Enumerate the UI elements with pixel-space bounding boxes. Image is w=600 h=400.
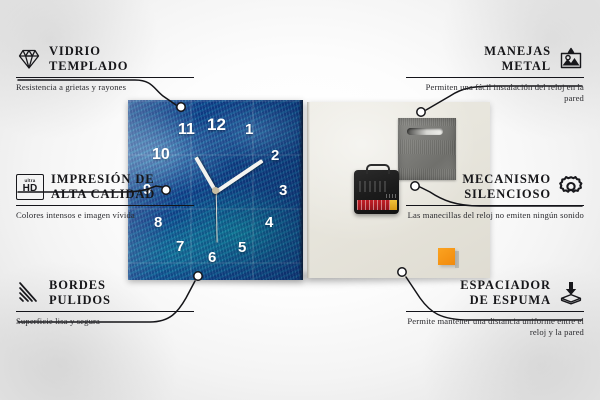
connector-node-bordes — [194, 272, 202, 280]
callout-rule — [406, 77, 584, 78]
callout-rule — [16, 77, 194, 78]
polished-edge-icon — [16, 280, 42, 306]
callout-espaciador-espuma: ESPACIADOR DE ESPUMA Permite mantener un… — [406, 278, 584, 339]
callout-desc: Superficie lisa y segura — [16, 316, 194, 327]
diamond-icon — [16, 46, 42, 72]
callout-impresion-alta-calidad: ultra HD IMPRESIÓN DE ALTA CALIDAD Color… — [16, 172, 194, 221]
connector-node-espaciador — [398, 268, 406, 276]
callout-title: MANEJAS METAL — [484, 44, 551, 74]
callout-desc: Permiten una fácil instalación del reloj… — [406, 82, 584, 105]
connector-node-vidrio — [177, 103, 185, 111]
callout-rule — [406, 311, 584, 312]
callout-rule — [406, 205, 584, 206]
callout-desc: Permite mantener una distancia uniforme … — [406, 316, 584, 339]
callout-title: IMPRESIÓN DE ALTA CALIDAD — [51, 172, 155, 202]
callout-rule — [16, 205, 194, 206]
callout-title: MECANISMO SILENCIOSO — [462, 172, 551, 202]
foam-spacer-icon — [558, 280, 584, 306]
callout-desc: Resistencia a grietas y rayones — [16, 82, 194, 93]
callout-vidrio-templado: VIDRIO TEMPLADO Resistencia a grietas y … — [16, 44, 194, 93]
callout-title: BORDES PULIDOS — [49, 278, 111, 308]
callout-mecanismo-silencioso: MECANISMO SILENCIOSO Las manecillas del … — [406, 172, 584, 221]
gear-icon — [558, 174, 584, 200]
ultra-hd-icon: ultra HD — [16, 174, 44, 200]
hanging-frame-icon — [558, 46, 584, 72]
callout-manejas-metal: MANEJAS METAL Permiten una fácil instala… — [406, 44, 584, 105]
callout-desc: Colores intensos e imagen vívida — [16, 210, 194, 221]
infographic-canvas: 12 1 2 3 4 5 6 7 8 9 10 11 — [0, 0, 600, 400]
callout-rule — [16, 311, 194, 312]
ultra-hd-main: HD — [23, 184, 38, 194]
callout-bordes-pulidos: BORDES PULIDOS Superficie lisa y segura — [16, 278, 194, 327]
callout-desc: Las manecillas del reloj no emiten ningú… — [406, 210, 584, 221]
callout-title: ESPACIADOR DE ESPUMA — [460, 278, 551, 308]
callout-title: VIDRIO TEMPLADO — [49, 44, 128, 74]
connector-node-manejas — [417, 108, 425, 116]
